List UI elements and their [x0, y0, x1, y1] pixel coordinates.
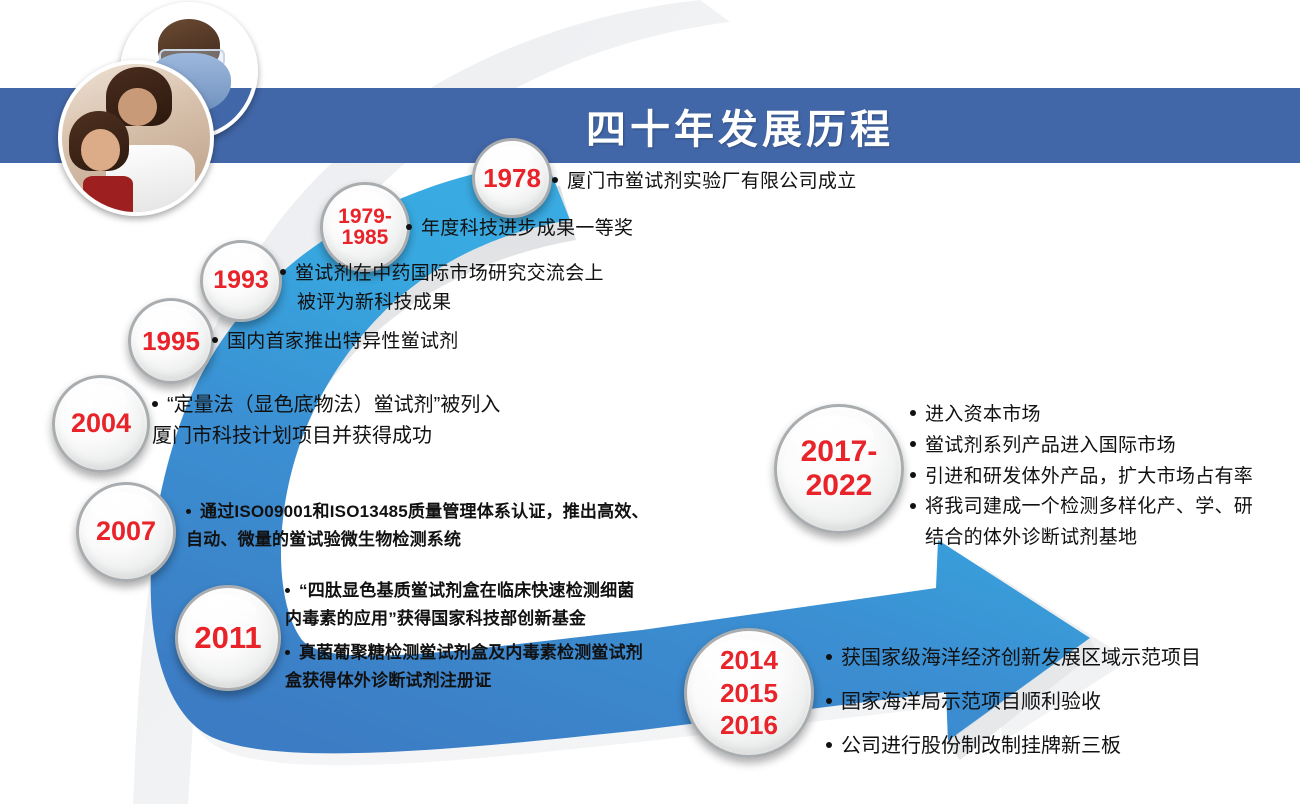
year-badge-2011[interactable]: 2011: [175, 585, 281, 691]
entry-1979-1985-line-1: 年度科技进步成果一等奖: [406, 213, 633, 240]
entry-1978-line-1: 厦门市鲎试剂实验厂有限公司成立: [552, 166, 857, 193]
entry-2011-item-2-line-1: 真菌葡聚糖检测鲎试剂盒及内毒素检测鲎试剂: [285, 639, 643, 667]
bullet-icon: [186, 509, 191, 514]
bullet-icon: [285, 650, 290, 655]
year-badge-1993[interactable]: 1993: [200, 240, 282, 322]
child-face-shape: [81, 129, 119, 170]
bullet-icon: [910, 503, 916, 509]
entry-1995-line-1: 国内首家推出特异性鲎试剂: [212, 326, 459, 353]
child-sweater-shape: [83, 176, 133, 214]
bullet-icon: [910, 441, 916, 447]
entry-2004-line-2: 厦门市科技计划项目并获得成功: [152, 421, 500, 452]
entry-2017-2022-bullet-3: 引进和研发体外产品，扩大市场占有率: [910, 462, 1253, 493]
year-badge-2011-label: 2011: [194, 622, 261, 654]
year-badge-1995-label: 1995: [142, 328, 200, 355]
year-badge-2004[interactable]: 2004: [52, 375, 150, 473]
entry-2011-item-1: “四肽显色基质鲎试剂盒在临床快速检测细菌 内毒素的应用”获得国家科技部创新基金: [285, 577, 635, 632]
bullet-icon: [826, 654, 832, 660]
entry-2017-2022: 进入资本市场 鲎试剂系列产品进入国际市场 引进和研发体外产品，扩大市场占有率 将…: [910, 400, 1253, 554]
year-badge-2017-2022-label: 2017- 2022: [801, 435, 878, 504]
year-badge-2007-label: 2007: [96, 518, 156, 546]
entry-2011-item-1-line-1: “四肽显色基质鲎试剂盒在临床快速检测细菌: [285, 577, 635, 605]
year-badge-1979-1985-label: 1979- 1985: [338, 206, 392, 249]
entry-2014-2016: 获国家级海洋经济创新发展区域示范项目 国家海洋局示范项目顺利验收 公司进行股份制…: [826, 636, 1201, 768]
mother-child-photo: [58, 60, 214, 216]
year-badge-2017-2022[interactable]: 2017- 2022: [774, 404, 904, 534]
entry-2007: 通过ISO09001和ISO13485质量管理体系认证，推出高效、 自动、微量的…: [186, 498, 649, 553]
bullet-icon: [826, 742, 832, 748]
entry-2017-2022-bullet-4: 将我司建成一个检测多样化产、学、研: [910, 492, 1253, 523]
entry-2017-2022-bullet-1: 进入资本市场: [910, 400, 1253, 431]
entry-2007-line-2: 自动、微量的鲎试验微生物检测系统: [186, 526, 649, 554]
year-badge-1978[interactable]: 1978: [472, 138, 552, 218]
entry-2011-item-2: 真菌葡聚糖检测鲎试剂盒及内毒素检测鲎试剂 盒获得体外诊断试剂注册证: [285, 639, 643, 694]
entry-2004: “定量法（显色底物法）鲎试剂”被列入 厦门市科技计划项目并获得成功: [152, 390, 500, 452]
year-badge-1995[interactable]: 1995: [128, 298, 214, 384]
bullet-icon: [910, 410, 916, 416]
bullet-icon: [285, 588, 290, 593]
entry-1979-1985: 年度科技进步成果一等奖: [406, 213, 633, 240]
entry-2014-2016-bullet-2: 国家海洋局示范项目顺利验收: [826, 680, 1201, 724]
year-badge-2014-2016-label: 2014 2015 2016: [720, 644, 778, 742]
mother-face-shape: [118, 88, 156, 126]
year-badge-2007[interactable]: 2007: [76, 482, 176, 582]
entry-1993: 鲎试剂在中药国际市场研究交流会上 被评为新科技成果: [280, 260, 604, 317]
entry-2014-2016-bullet-3: 公司进行股份制改制挂牌新三板: [826, 724, 1201, 768]
entry-2011-item-2-line-2: 盒获得体外诊断试剂注册证: [285, 667, 643, 695]
infographic-canvas: 四十年发展历程 1978 1979- 1985 1993 1995 2004 2…: [0, 0, 1300, 804]
entry-2014-2016-bullet-1: 获国家级海洋经济创新发展区域示范项目: [826, 636, 1201, 680]
year-badge-1978-label: 1978: [483, 165, 541, 192]
entry-1993-line-2: 被评为新科技成果: [280, 289, 604, 318]
entry-2017-2022-bullet-2: 鲎试剂系列产品进入国际市场: [910, 431, 1253, 462]
bullet-icon: [406, 224, 412, 230]
year-badge-2014-2016[interactable]: 2014 2015 2016: [684, 628, 814, 758]
year-badge-2004-label: 2004: [71, 410, 131, 438]
bullet-icon: [552, 177, 558, 183]
year-badge-1993-label: 1993: [213, 268, 269, 294]
entry-2011-item-1-line-2: 内毒素的应用”获得国家科技部创新基金: [285, 605, 635, 633]
entry-1995: 国内首家推出特异性鲎试剂: [212, 326, 459, 353]
bullet-icon: [826, 698, 832, 704]
bullet-icon: [212, 337, 218, 343]
bullet-icon: [152, 401, 158, 407]
entry-1978: 厦门市鲎试剂实验厂有限公司成立: [552, 166, 857, 193]
entry-2007-line-1: 通过ISO09001和ISO13485质量管理体系认证，推出高效、: [186, 498, 649, 526]
entry-2004-line-1: “定量法（显色底物法）鲎试剂”被列入: [152, 390, 500, 421]
entry-2017-2022-bullet-4-cont: 结合的体外诊断试剂基地: [910, 523, 1253, 554]
year-badge-1979-1985[interactable]: 1979- 1985: [320, 182, 410, 272]
bullet-icon: [280, 269, 286, 275]
bullet-icon: [910, 472, 916, 478]
entry-1993-line-1: 鲎试剂在中药国际市场研究交流会上: [280, 260, 604, 289]
